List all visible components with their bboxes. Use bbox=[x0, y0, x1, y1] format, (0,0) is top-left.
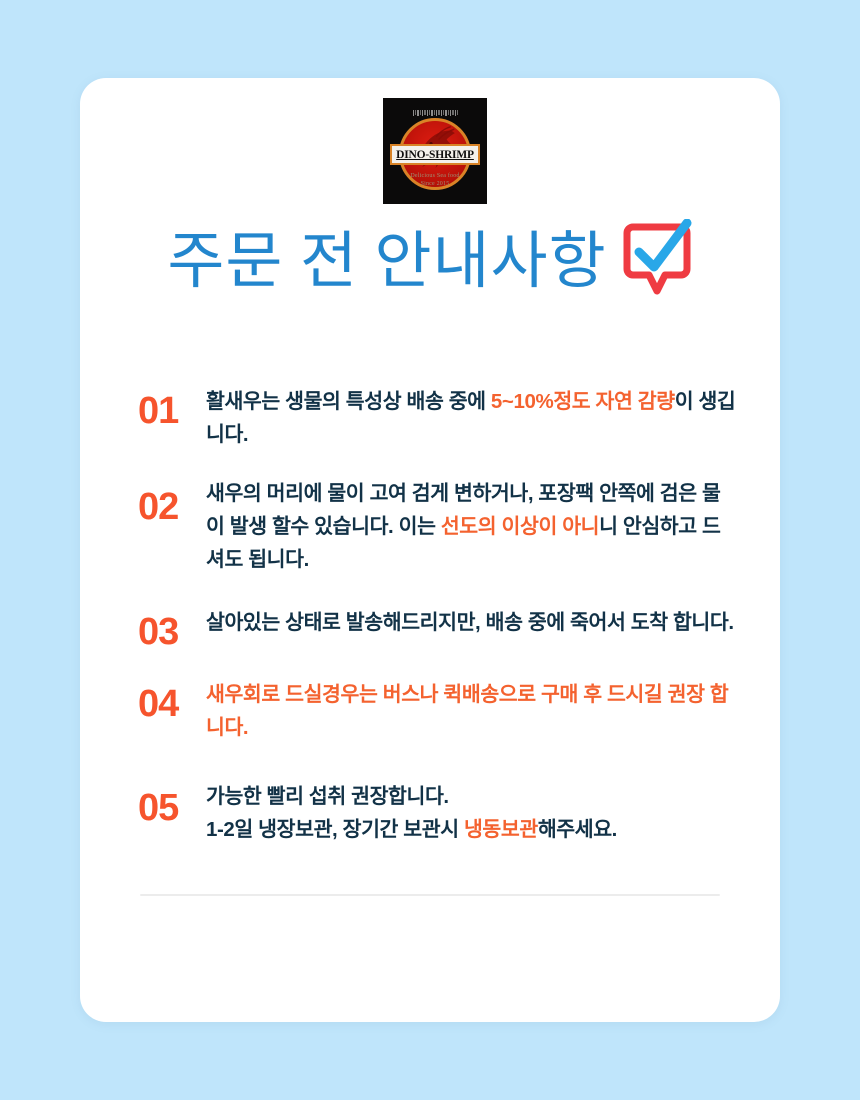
tagline-line-2: Since 2015 bbox=[383, 180, 487, 188]
notice-number: 03 bbox=[138, 610, 206, 654]
section-divider bbox=[140, 894, 720, 896]
notice-seg-highlight: 5~10%정도 자연 감량 bbox=[491, 390, 675, 413]
notice-item-03: 03 살아있는 상태로 발송해드리지만, 배송 중에 죽어서 도착 합니다. bbox=[138, 604, 738, 654]
logo-tagline: Delicious Sea food Since 2015 bbox=[383, 172, 487, 188]
notice-item-02: 02 새우의 머리에 물이 고여 검게 변하거나, 포장팩 안쪽에 검은 물이 … bbox=[138, 475, 738, 576]
notice-text: 새우의 머리에 물이 고여 검게 변하거나, 포장팩 안쪽에 검은 물이 발생 … bbox=[206, 475, 738, 576]
notice-seg: 살아있는 상태로 발송해드리지만, 배송 중에 죽어서 도착 합니다. bbox=[206, 611, 734, 634]
notice-card: DINO-SHRIMP Delicious Sea food Since 201… bbox=[80, 78, 780, 1022]
barcode-icon bbox=[383, 109, 487, 116]
notice-text: 활새우는 생물의 특성상 배송 중에 5~10%정도 자연 감량이 생깁니다. bbox=[206, 383, 738, 451]
notice-item-04: 04 새우회로 드실경우는 버스나 퀵배송으로 구매 후 드시길 권장 합니다. bbox=[138, 676, 738, 744]
notice-text: 새우회로 드실경우는 버스나 퀵배송으로 구매 후 드시길 권장 합니다. bbox=[206, 676, 738, 744]
notice-number: 02 bbox=[138, 485, 206, 529]
logo-banner: DINO-SHRIMP bbox=[390, 144, 480, 165]
notice-seg: 1-2일 냉장보관, 장기간 보관시 bbox=[206, 818, 464, 841]
tagline-line-1: Delicious Sea food bbox=[383, 172, 487, 180]
notice-number: 05 bbox=[138, 786, 206, 830]
notice-item-05: 05 가능한 빨리 섭취 권장합니다.1-2일 냉장보관, 장기간 보관시 냉동… bbox=[138, 778, 738, 846]
notice-page: DINO-SHRIMP Delicious Sea food Since 201… bbox=[0, 0, 860, 1100]
notice-seg-highlight: 선도의 이상이 아니 bbox=[441, 515, 599, 538]
notice-seg: 가능한 빨리 섭취 권장합니다. bbox=[206, 785, 449, 808]
notice-number: 04 bbox=[138, 682, 206, 726]
notice-seg: 활새우는 생물의 특성상 배송 중에 bbox=[206, 390, 491, 413]
notice-seg-highlight: 새우회로 드실경우는 버스나 퀵배송으로 구매 후 드시길 권장 합니다. bbox=[206, 683, 728, 739]
brand-logo: DINO-SHRIMP Delicious Sea food Since 201… bbox=[383, 98, 487, 204]
page-title: 주문 전 안내사항 bbox=[167, 227, 606, 297]
brand-name: DINO-SHRIMP bbox=[396, 149, 474, 161]
notice-seg-highlight: 냉동보관 bbox=[464, 818, 538, 841]
page-title-row: 주문 전 안내사항 bbox=[80, 214, 780, 310]
check-badge-icon bbox=[621, 219, 693, 299]
notice-list: 01 활새우는 생물의 특성상 배송 중에 5~10%정도 자연 감량이 생깁니… bbox=[138, 383, 738, 846]
notice-item-01: 01 활새우는 생물의 특성상 배송 중에 5~10%정도 자연 감량이 생깁니… bbox=[138, 383, 738, 451]
notice-seg: 해주세요. bbox=[538, 818, 617, 841]
logo-plate: DINO-SHRIMP Delicious Sea food Since 201… bbox=[383, 98, 487, 204]
notice-number: 01 bbox=[138, 389, 206, 433]
notice-text: 살아있는 상태로 발송해드리지만, 배송 중에 죽어서 도착 합니다. bbox=[206, 604, 738, 639]
notice-text: 가능한 빨리 섭취 권장합니다.1-2일 냉장보관, 장기간 보관시 냉동보관해… bbox=[206, 778, 738, 846]
